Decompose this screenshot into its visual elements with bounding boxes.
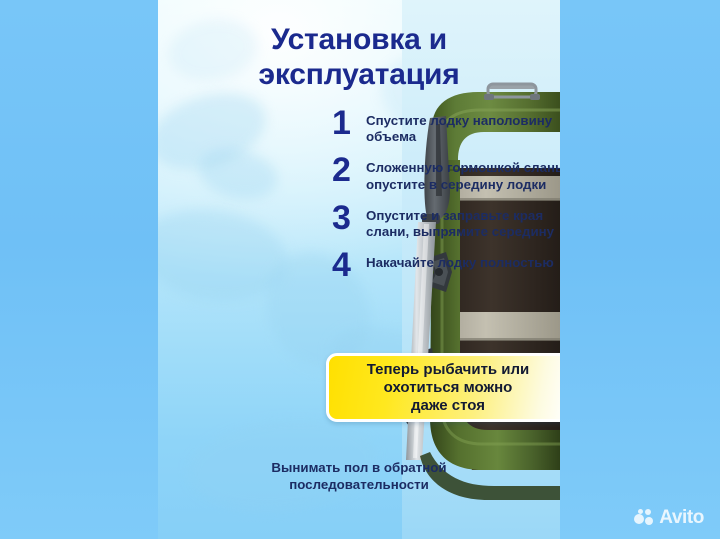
step-text: Спустите лодку наполовину объема xyxy=(366,112,560,145)
callout-line-3: даже стоя xyxy=(367,397,530,415)
avito-watermark: Avito xyxy=(634,508,704,527)
page-title-line-2: эксплуатация xyxy=(158,57,560,92)
listing-image-panel: Установка и эксплуатация 1 Спустите лодк… xyxy=(158,0,560,539)
highlight-callout-box: Теперь рыбачить или охотиться можно даже… xyxy=(326,353,560,422)
map-texture-blob xyxy=(194,142,282,206)
page-title: Установка и эксплуатация xyxy=(158,22,560,93)
callout-text: Теперь рыбачить или охотиться можно даже… xyxy=(367,361,530,415)
avito-wordmark: Avito xyxy=(659,508,704,527)
avito-dots-icon xyxy=(634,509,654,527)
step-text: Накачайте лодку полностью xyxy=(366,254,560,271)
screenshot-root: Установка и эксплуатация 1 Спустите лодк… xyxy=(0,0,720,539)
footer-note: Вынимать пол в обратной последовательнос… xyxy=(158,460,560,493)
seat-shadow xyxy=(446,338,560,341)
map-texture-blob xyxy=(158,200,294,310)
callout-line-1: Теперь рыбачить или xyxy=(367,361,530,379)
list-item: 1 Спустите лодку наполовину объема xyxy=(332,112,560,145)
map-texture-blob xyxy=(158,79,276,183)
step-text: Опустите и заправьте края слани, выпрями… xyxy=(366,207,560,240)
page-title-line-1: Установка и xyxy=(271,23,447,56)
list-item: 4 Накачайте лодку полностью xyxy=(332,254,560,281)
list-item: 3 Опустите и заправьте края слани, выпря… xyxy=(332,207,560,240)
footer-note-line-2: последовательности xyxy=(158,477,560,494)
list-item: 2 Сложенную гормошкой слань опустите в с… xyxy=(332,159,560,192)
callout-line-2: охотиться можно xyxy=(367,379,530,397)
step-number: 2 xyxy=(332,155,366,186)
instruction-steps-list: 1 Спустите лодку наполовину объема 2 Сло… xyxy=(332,112,560,296)
step-text: Сложенную гормошкой слань опустите в сер… xyxy=(366,159,560,192)
footer-note-line-1: Вынимать пол в обратной xyxy=(158,460,560,477)
step-number: 1 xyxy=(332,108,366,139)
step-number: 4 xyxy=(332,250,366,281)
boat-seat-bench xyxy=(446,312,560,340)
step-number: 3 xyxy=(332,203,366,234)
